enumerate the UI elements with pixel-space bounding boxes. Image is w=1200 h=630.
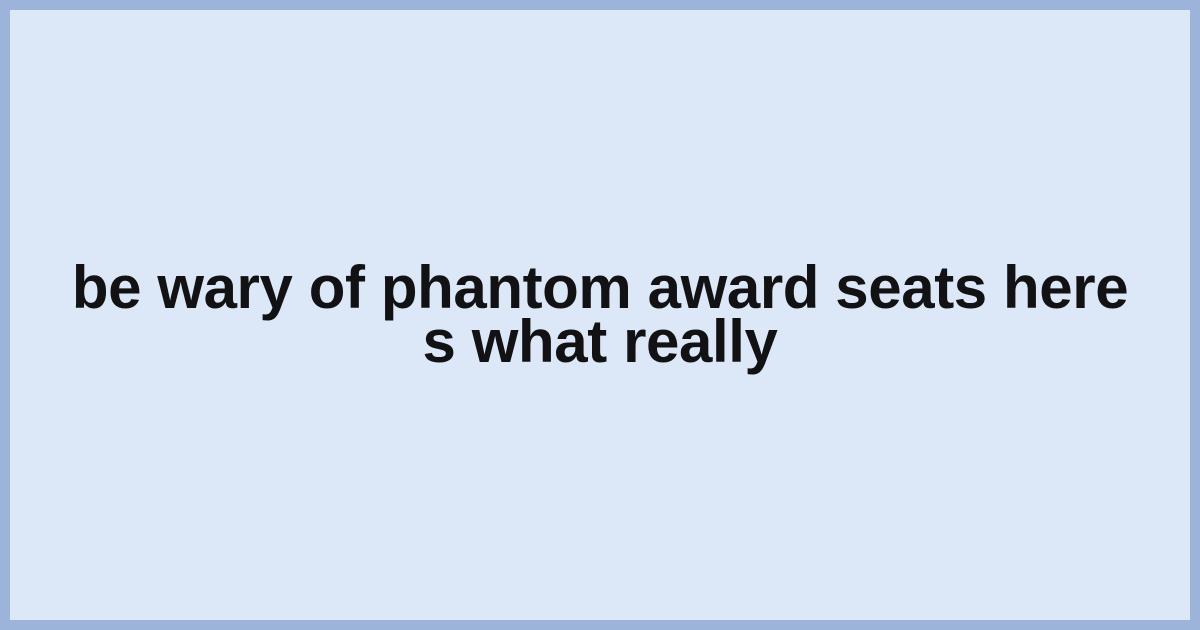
headline-title: be wary of phantom award seats here s wh… — [64, 261, 1136, 369]
headline-block: be wary of phantom award seats here s wh… — [64, 261, 1136, 369]
og-image-card: be wary of phantom award seats here s wh… — [0, 0, 1200, 630]
